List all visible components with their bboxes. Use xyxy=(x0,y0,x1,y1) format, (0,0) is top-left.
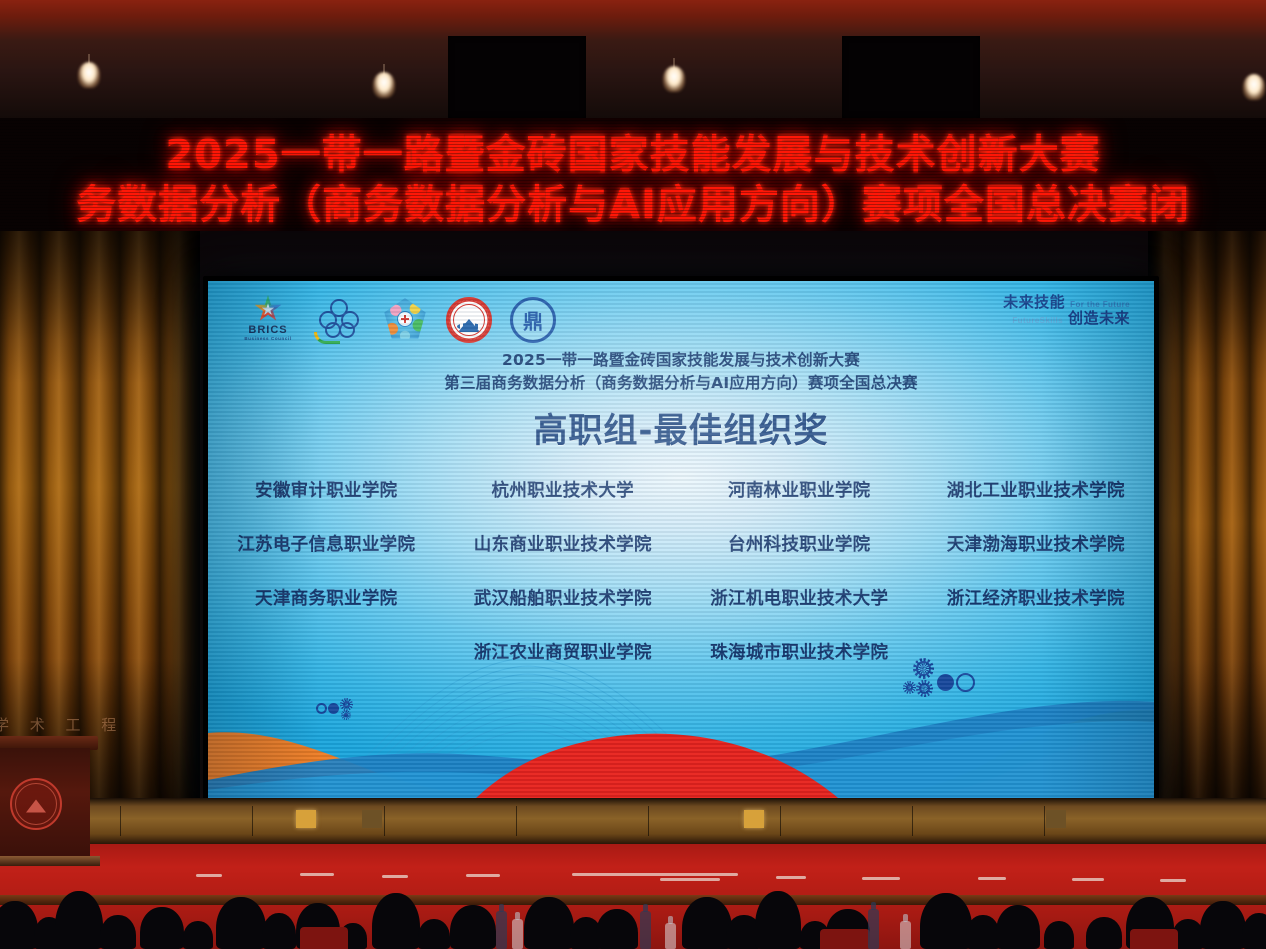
desk-highlight xyxy=(382,875,408,878)
skills-network-logo xyxy=(316,297,364,343)
ceiling-spotlight xyxy=(78,62,100,88)
apron-light-plate xyxy=(744,810,764,828)
blue-circular-institution-seal: 鼎 xyxy=(510,297,556,343)
awardee-list: 安徽审计职业学院 杭州职业技术大学 河南林业职业学院 湖北工业职业技术学院 江苏… xyxy=(208,477,1154,664)
stage-apron xyxy=(0,798,1266,844)
seat-back xyxy=(1130,929,1178,949)
gear-toothed-icon xyxy=(903,681,916,694)
audience-head xyxy=(682,897,732,949)
water-bottle xyxy=(665,923,676,949)
gear-toothed-icon xyxy=(916,680,933,697)
desk-highlight xyxy=(776,876,806,879)
audience-head xyxy=(372,893,420,949)
audience-head xyxy=(596,909,638,949)
ceiling-spotlight xyxy=(373,72,395,98)
banner-line-2: 务数据分析（商务数据分析与AI应用方向）赛项全国总决赛闭 xyxy=(0,172,1266,230)
logo-row: BRICS Business Council xyxy=(238,295,556,345)
seal-glyph: 鼎 xyxy=(523,306,543,335)
event-subtitle-line-1: 2025一带一路暨金砖国家技能发展与技术创新大赛 xyxy=(208,349,1154,372)
auditorium-scene: 2025一带一路暨金砖国家技能发展与技术创新大赛 务数据分析（商务数据分析与AI… xyxy=(0,0,1266,949)
water-bottle xyxy=(512,919,523,949)
audience-head xyxy=(262,913,296,949)
audience-head xyxy=(966,915,1000,949)
gear-ring-icon xyxy=(956,673,975,692)
audience-head xyxy=(1200,901,1246,949)
desk-highlight xyxy=(196,874,222,877)
apron-light-plate xyxy=(296,810,316,828)
seal-wave-icon xyxy=(457,323,481,330)
led-banner: 2025一带一路暨金砖国家技能发展与技术创新大赛 务数据分析（商务数据分析与AI… xyxy=(0,118,1266,231)
speaker-podium: 学 术 工 程 xyxy=(0,736,98,866)
audience-head xyxy=(216,897,266,949)
brics-star-icon xyxy=(254,295,282,323)
brics-subtext: Business Council xyxy=(244,336,291,341)
apron-light-plate xyxy=(1046,810,1066,828)
gear-cluster-right xyxy=(903,658,975,708)
audience-head xyxy=(418,919,450,949)
awardee-name: 天津渤海职业技术学院 xyxy=(918,531,1155,556)
audience-head xyxy=(100,915,136,949)
network-tail-icon xyxy=(314,332,340,344)
podium-body xyxy=(0,748,90,858)
audience-head xyxy=(1044,921,1074,949)
award-title: 高职组-最佳组织奖 xyxy=(208,403,1154,452)
brics-business-council-logo: BRICS Business Council xyxy=(238,295,298,345)
awardee-row: 江苏电子信息职业学院 山东商业职业技术学院 台州科技职业学院 天津渤海职业技术学… xyxy=(208,531,1154,556)
audience-head xyxy=(55,891,103,949)
gear-toothed-icon xyxy=(341,710,351,720)
awardee-name: 江苏电子信息职业学院 xyxy=(208,531,445,556)
awardee-row: 安徽审计职业学院 杭州职业技术大学 河南林业职业学院 湖北工业职业技术学院 xyxy=(208,477,1154,502)
water-bottle xyxy=(900,921,911,949)
audience-head xyxy=(1242,913,1266,949)
audience-head xyxy=(755,891,801,949)
audience-head xyxy=(0,901,38,949)
event-subtitle-line-2: 第三届商务数据分析（商务数据分析与AI应用方向）赛项全国总决赛 xyxy=(208,372,1154,395)
water-bottle xyxy=(868,909,879,949)
red-circular-institution-seal xyxy=(446,297,492,343)
ceiling-panel xyxy=(842,36,980,118)
ceiling-spotlight xyxy=(663,66,685,92)
presentation-screen: BRICS Business Council xyxy=(208,281,1154,798)
awardee-row: 浙江农业商贸职业学院 珠海城市职业技术学院 xyxy=(208,639,1154,664)
desk-highlight xyxy=(1072,878,1104,881)
audience xyxy=(0,862,1266,949)
podium-backdrop-characters: 学 术 工 程 xyxy=(0,714,124,735)
audience-head xyxy=(1086,917,1122,949)
podium-seal-ring xyxy=(15,783,57,825)
apron-light-plate xyxy=(362,810,382,828)
awardee-name: 天津商务职业学院 xyxy=(208,585,445,610)
audience-head xyxy=(920,893,972,949)
awardee-name: 杭州职业技术大学 xyxy=(445,477,682,502)
slogan-cn-line2: 创造未来 xyxy=(1068,311,1130,327)
water-bottle xyxy=(496,911,507,949)
slogan-cn-line1: 未来技能 xyxy=(1003,295,1065,311)
desk-highlight xyxy=(978,877,1006,880)
awardee-name: 台州科技职业学院 xyxy=(681,531,918,556)
awardee-row: 天津商务职业学院 武汉船舶职业技术学院 浙江机电职业技术大学 浙江经济职业技术学… xyxy=(208,585,1154,610)
desk-highlight xyxy=(862,877,900,880)
awardee-name: 武汉船舶职业技术学院 xyxy=(445,585,682,610)
awardee-name: 浙江经济职业技术学院 xyxy=(918,585,1155,610)
ceiling-spotlight xyxy=(1243,74,1265,100)
awardee-name: 山东商业职业技术学院 xyxy=(445,531,682,556)
awardee-name-empty xyxy=(918,639,1155,664)
gear-cluster-left xyxy=(316,696,356,722)
stage-curtain-right xyxy=(1148,231,1266,841)
desk-highlight xyxy=(466,874,500,877)
audience-head xyxy=(183,921,213,949)
slogan-en-line2: FutureSkills xyxy=(1012,317,1063,325)
awardee-name: 安徽审计职业学院 xyxy=(208,477,445,502)
ceiling-panel xyxy=(448,36,586,118)
awardee-name-empty xyxy=(208,639,445,664)
audience-head xyxy=(524,897,574,949)
futureskills-slogan: 未来技能 For the Future FutureSkills 创造未来 xyxy=(1003,295,1130,327)
seat-back xyxy=(300,927,348,949)
desk-highlight xyxy=(1160,879,1186,882)
brics-wordmark: BRICS xyxy=(248,324,287,336)
gear-solid-icon xyxy=(937,674,954,691)
audience-head xyxy=(996,905,1040,949)
event-subtitle-block: 2025一带一路暨金砖国家技能发展与技术创新大赛 第三届商务数据分析（商务数据分… xyxy=(208,349,1154,395)
water-bottle xyxy=(640,911,651,949)
ceiling xyxy=(0,0,1266,118)
gear-ring-icon xyxy=(316,703,327,714)
awardee-name: 浙江农业商贸职业学院 xyxy=(445,639,682,664)
awardee-name: 珠海城市职业技术学院 xyxy=(681,639,918,664)
network-ring-icon xyxy=(339,322,355,338)
gear-solid-icon xyxy=(328,703,339,714)
globe-core-icon xyxy=(397,311,413,327)
awardee-name: 浙江机电职业技术大学 xyxy=(681,585,918,610)
podium-institution-seal xyxy=(10,778,62,830)
audience-head xyxy=(450,905,496,949)
awardee-name: 湖北工业职业技术学院 xyxy=(918,477,1155,502)
seal-inner-disc xyxy=(453,304,485,336)
desk-highlight xyxy=(660,878,720,881)
seat-back xyxy=(820,929,870,949)
curtain-edge-shadow xyxy=(154,231,200,841)
awardee-name: 河南林业职业学院 xyxy=(681,477,918,502)
desk-highlight xyxy=(572,873,738,876)
audience-head xyxy=(140,907,184,949)
world-skills-globe-logo xyxy=(382,298,428,342)
desk-highlight xyxy=(300,873,334,876)
